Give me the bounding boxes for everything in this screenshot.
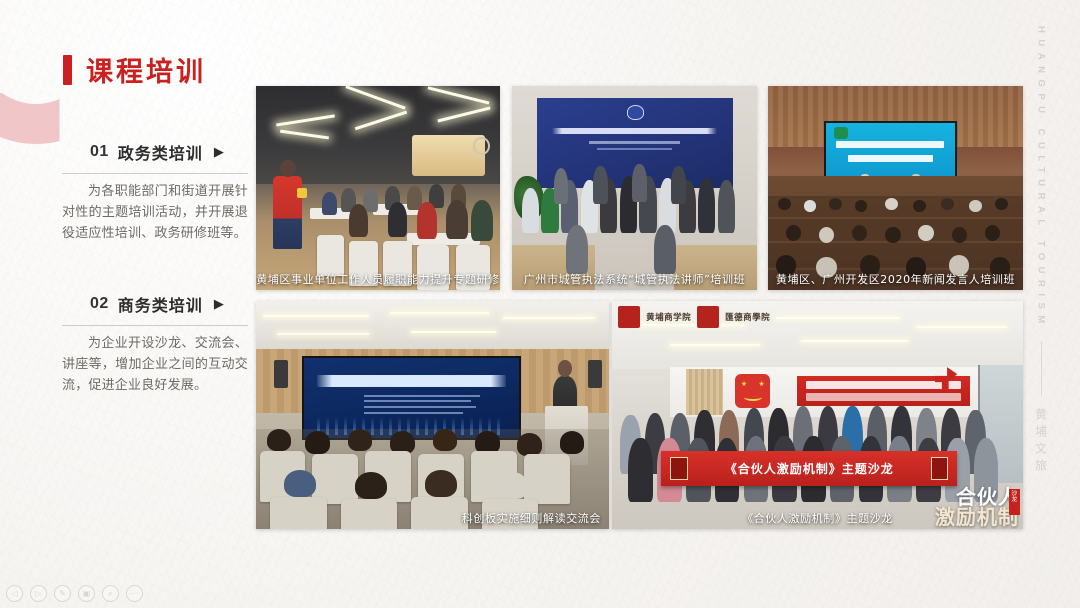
audience-head xyxy=(786,225,801,241)
attendee xyxy=(471,200,493,241)
screen-text-line xyxy=(364,412,463,414)
group-member-front xyxy=(566,225,588,274)
title-accent-bar xyxy=(63,55,72,85)
section-block-business[interactable]: 02 商务类培训 ▶ 为企业开设沙龙、交流会、讲座等，增加企业之间的互动交流，促… xyxy=(62,292,248,396)
star-icon: ★ xyxy=(741,380,747,388)
ceiling-light xyxy=(916,326,1006,328)
audience-head xyxy=(475,431,500,454)
pen-glyph: ✎ xyxy=(59,589,66,598)
audience-head xyxy=(305,431,330,454)
ceiling-light xyxy=(390,312,489,314)
chevron-right-icon[interactable]: ▶ xyxy=(214,296,224,312)
group-member-front xyxy=(654,225,676,274)
photo-watermark: 合伙人 激励机制 沙龙 xyxy=(935,487,1019,527)
rail-chinese-text: 黄埔文旅 xyxy=(1033,408,1050,476)
page-title: 课程培训 xyxy=(63,50,206,89)
screen-text-line xyxy=(364,400,471,402)
zoom-glyph: ⌕ xyxy=(108,589,112,599)
banner-text: 《合伙人激励机制》主题沙龙 xyxy=(725,460,894,477)
group-member xyxy=(671,166,686,205)
screen-line-2 xyxy=(848,155,933,162)
photo-caption: 《合伙人激励机制》主题沙龙 xyxy=(727,510,908,526)
section-number: 02 xyxy=(90,295,109,313)
group-member xyxy=(522,188,539,233)
projection-screen xyxy=(302,356,521,440)
screen-line-1 xyxy=(836,141,944,148)
seal-right-icon xyxy=(931,457,949,480)
attendee xyxy=(417,202,437,239)
section-header: 02 商务类培训 ▶ xyxy=(62,292,248,316)
chair xyxy=(524,454,570,504)
section-divider xyxy=(62,325,248,326)
section-body-text: 为企业开设沙龙、交流会、讲座等，增加企业之间的互动交流，促进企业良好发展。 xyxy=(62,333,248,396)
smiley-logo-icon: ★ ★ xyxy=(735,374,770,408)
ceiling-light xyxy=(263,315,369,317)
brand-rail: HUANGPU CULTURAL TOURISM 黄埔文旅 xyxy=(1024,26,1058,582)
ruide-logo-icon xyxy=(697,306,719,328)
photo-partner-incentive-salon[interactable]: ★ ★ xyxy=(612,301,1023,529)
section-number: 01 xyxy=(90,143,109,161)
audience-head xyxy=(517,433,542,456)
group-member xyxy=(593,166,608,205)
screen-title-bar xyxy=(317,375,506,387)
more-menu-icon[interactable]: ⋯ xyxy=(126,585,143,602)
more-glyph: ⋯ xyxy=(131,589,139,598)
audience-head xyxy=(995,198,1008,210)
audience-head xyxy=(355,472,387,499)
attendee xyxy=(322,192,337,214)
ceiling-light xyxy=(776,317,899,319)
school-logo-bar: 黄埔商学院 匯德商學院 xyxy=(618,306,770,328)
wood-slat-panel xyxy=(686,369,723,415)
audience-head xyxy=(433,429,458,452)
rail-divider xyxy=(1041,342,1042,396)
play-glyph: ▷ xyxy=(35,589,41,598)
wall-speaker xyxy=(588,360,602,387)
photo-classroom-training[interactable]: 黄埔区事业单位工作人员履职能力提升专题研修 xyxy=(256,86,500,290)
photo-caption: 科创板实施细则解读交流会 xyxy=(256,510,609,526)
emblem-icon xyxy=(627,105,645,119)
audience-head xyxy=(918,225,933,241)
audience-head xyxy=(952,227,967,243)
audience-head xyxy=(390,431,415,454)
seal-left-icon xyxy=(670,457,688,480)
ceiling-light xyxy=(670,344,760,346)
pen-icon[interactable]: ✎ xyxy=(54,585,71,602)
previous-glyph: ◁ xyxy=(11,589,17,598)
attendee xyxy=(388,202,408,237)
photo-caption: 广州市城管执法系统“城管执法讲师”培训班 xyxy=(512,271,757,287)
ceiling-light xyxy=(411,331,496,333)
wall-speaker xyxy=(274,360,288,387)
ceiling-light xyxy=(503,317,595,319)
section-body-text: 为各职能部门和街道开展针对性的主题培训活动，并开展退役适应性培训、政务研修班等。 xyxy=(62,181,248,244)
section-title: 政务类培训 xyxy=(118,140,203,164)
audience-head xyxy=(496,472,528,499)
section-title: 商务类培训 xyxy=(118,292,203,316)
screen-title-line xyxy=(552,128,717,134)
attendee xyxy=(446,200,468,239)
watermark-line-1: 合伙人 xyxy=(935,487,1019,507)
group-member-front xyxy=(628,438,653,502)
play-icon[interactable]: ▷ xyxy=(30,585,47,602)
star-icon: ★ xyxy=(758,380,764,388)
group-member xyxy=(554,168,569,205)
player-toolbar[interactable]: ◁ ▷ ✎ ▣ ⌕ ⋯ xyxy=(6,585,143,602)
speaker-person xyxy=(273,176,302,249)
screen-subtitle-line xyxy=(597,148,672,150)
group-member xyxy=(718,180,735,233)
photo-urban-management-group[interactable]: 广州市城管执法系统“城管执法讲师”培训班 xyxy=(512,86,757,290)
photo-caption: 黄埔区、广州开发区2020年新闻发言人培训班 xyxy=(768,271,1023,287)
ceiling-light xyxy=(801,340,908,342)
watermark-tag: 沙龙 xyxy=(1009,489,1020,515)
seat-row xyxy=(768,243,1023,267)
huangpu-logo-icon xyxy=(618,306,640,328)
group-member xyxy=(698,178,715,233)
ceiling-light xyxy=(277,333,369,335)
section-header: 01 政务类培训 ▶ xyxy=(62,140,248,164)
watermark-line-2: 激励机制 xyxy=(935,507,1019,527)
photo-caption: 黄埔区事业单位工作人员履职能力提升专题研修 xyxy=(256,271,500,287)
title-text: 课程培训 xyxy=(86,50,206,89)
smile-curve xyxy=(744,393,762,401)
ceiling xyxy=(256,301,609,349)
rail-english-text: HUANGPU CULTURAL TOURISM xyxy=(1036,26,1047,330)
slide-canvas: 课程培训 01 政务类培训 ▶ 为各职能部门和街道开展针对性的主题培训活动，并开… xyxy=(0,0,1080,608)
photo-spokesperson-auditorium[interactable]: 黄埔区、广州开发区2020年新闻发言人培训班 xyxy=(768,86,1023,290)
zoom-icon[interactable]: ⌕ xyxy=(102,585,119,602)
microphone xyxy=(297,188,307,198)
attendee xyxy=(349,204,369,237)
led-screen xyxy=(824,121,957,182)
logo-right-name: 匯德商學院 xyxy=(725,311,770,323)
chair xyxy=(317,235,344,276)
section-block-governance[interactable]: 01 政务类培训 ▶ 为各职能部门和街道开展针对性的主题培训活动，并开展退役适应… xyxy=(62,140,248,244)
previous-icon[interactable]: ◁ xyxy=(6,585,23,602)
screen-text-line xyxy=(364,395,480,397)
section-divider xyxy=(62,173,248,174)
logo-icon xyxy=(834,127,848,138)
save-glyph: ▣ xyxy=(83,589,91,598)
audience-head xyxy=(267,429,292,452)
audience-head xyxy=(985,225,1000,241)
audience-head xyxy=(425,470,457,497)
audience-head xyxy=(284,470,316,497)
save-icon[interactable]: ▣ xyxy=(78,585,95,602)
slogan-line xyxy=(806,393,961,401)
audience-head xyxy=(348,429,373,452)
group-member xyxy=(632,164,647,203)
screen-text-line xyxy=(364,406,476,408)
chevron-right-icon[interactable]: ▶ xyxy=(214,144,224,160)
photo-star-market-seminar[interactable]: 科创板实施细则解读交流会 xyxy=(256,301,609,529)
logo-left-name: 黄埔商学院 xyxy=(646,311,691,323)
event-banner: 《合伙人激励机制》主题沙龙 xyxy=(661,451,957,485)
screen-subtitle-line xyxy=(589,141,679,144)
audience-head xyxy=(885,227,900,243)
audience-head xyxy=(560,431,585,454)
